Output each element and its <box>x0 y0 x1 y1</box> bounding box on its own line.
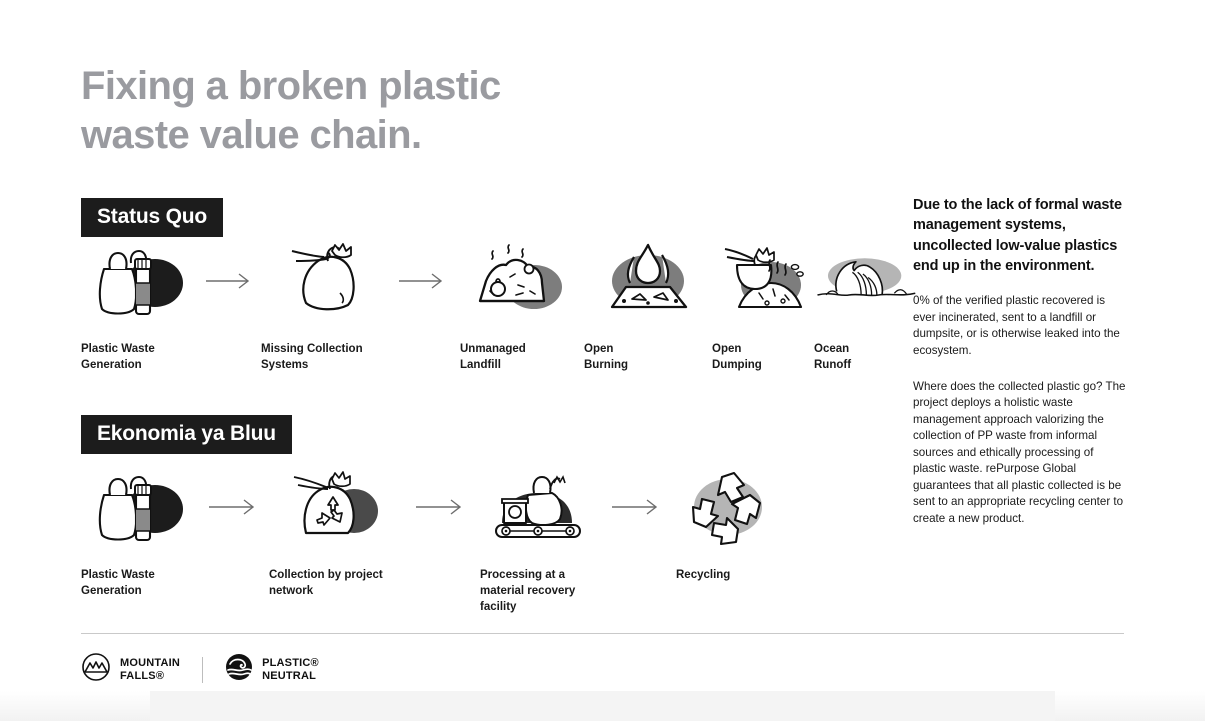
sidebar-paragraph-2: Where does the collected plastic go? The… <box>913 379 1127 527</box>
flow-arrow-icon <box>598 466 676 548</box>
plastic-neutral-logo: PLASTIC® NEUTRAL <box>225 653 319 686</box>
plastic-bag-bottle-icon <box>81 466 199 548</box>
bottom-shadow-band <box>0 691 1205 721</box>
page-title: Fixing a broken plastic waste value chai… <box>81 62 641 160</box>
flow-row-ekonomia-ya-bluu: Plastic Waste Generation <box>81 466 776 616</box>
step-plastic-waste-generation-2: Plastic Waste Generation <box>81 466 199 600</box>
step-open-dumping: Open Dumping <box>712 240 814 374</box>
landfill-pile-icon <box>460 240 584 322</box>
footer-logo-separator <box>202 657 203 683</box>
footer-logos: MOUNTAIN FALLS® PLASTIC® NEUTRAL <box>81 652 319 687</box>
step-label: Open Burning <box>584 342 712 374</box>
hand-dumping-bag-icon <box>712 240 814 322</box>
sidebar-heading: Due to the lack of formal waste manageme… <box>913 195 1127 276</box>
footer-divider <box>81 633 1124 634</box>
step-processing-material-recovery-facility: Processing at a material recovery facili… <box>480 466 598 616</box>
bag-with-recycle-icon <box>269 466 402 548</box>
sidebar-commentary: Due to the lack of formal waste manageme… <box>913 195 1127 527</box>
ocean-wave-icon <box>814 240 924 322</box>
step-label: Processing at a material recovery facili… <box>480 568 598 616</box>
step-label: Open Dumping <box>712 342 814 374</box>
step-ocean-runoff: Ocean Runoff <box>814 240 924 374</box>
flow-arrow-icon <box>199 240 261 322</box>
hand-holding-bag-icon <box>261 240 386 322</box>
step-label: Ocean Runoff <box>814 342 924 374</box>
step-label: Collection by project network <box>269 568 402 600</box>
flow-arrow-icon <box>199 466 269 548</box>
step-unmanaged-landfill: Unmanaged Landfill <box>460 240 584 374</box>
plastic-bag-bottle-icon <box>81 240 199 322</box>
step-recycling: Recycling <box>676 466 776 584</box>
step-label: Plastic Waste Generation <box>81 342 199 374</box>
step-open-burning: Open Burning <box>584 240 712 374</box>
flow-row-status-quo: Plastic Waste Generation Missing Collect… <box>81 240 924 374</box>
mountain-circle-icon <box>81 652 111 687</box>
step-label: Recycling <box>676 568 776 584</box>
conveyor-belt-icon <box>480 466 598 548</box>
flow-arrow-icon <box>402 466 480 548</box>
step-label: Missing Collection Systems <box>261 342 386 374</box>
fire-burning-pile-icon <box>584 240 712 322</box>
step-missing-collection-systems: Missing Collection Systems <box>261 240 386 374</box>
step-label: Unmanaged Landfill <box>460 342 584 374</box>
plastic-neutral-wordmark: PLASTIC® NEUTRAL <box>262 657 319 683</box>
sidebar-paragraph-1: 0% of the verified plastic recovered is … <box>913 293 1127 359</box>
step-label: Plastic Waste Generation <box>81 568 199 600</box>
step-collection-by-project-network: Collection by project network <box>269 466 402 600</box>
mountain-falls-wordmark: MOUNTAIN FALLS® <box>120 657 180 683</box>
flow-arrow-icon <box>386 240 460 322</box>
section-badge-ekonomia-ya-bluu: Ekonomia ya Bluu <box>81 415 292 454</box>
infographic-page: Fixing a broken plastic waste value chai… <box>0 0 1205 721</box>
section-badge-status-quo: Status Quo <box>81 198 223 237</box>
recycling-arrows-icon <box>676 466 776 548</box>
step-plastic-waste-generation: Plastic Waste Generation <box>81 240 199 374</box>
mountain-falls-logo: MOUNTAIN FALLS® <box>81 652 180 687</box>
wave-circle-icon <box>225 653 253 686</box>
